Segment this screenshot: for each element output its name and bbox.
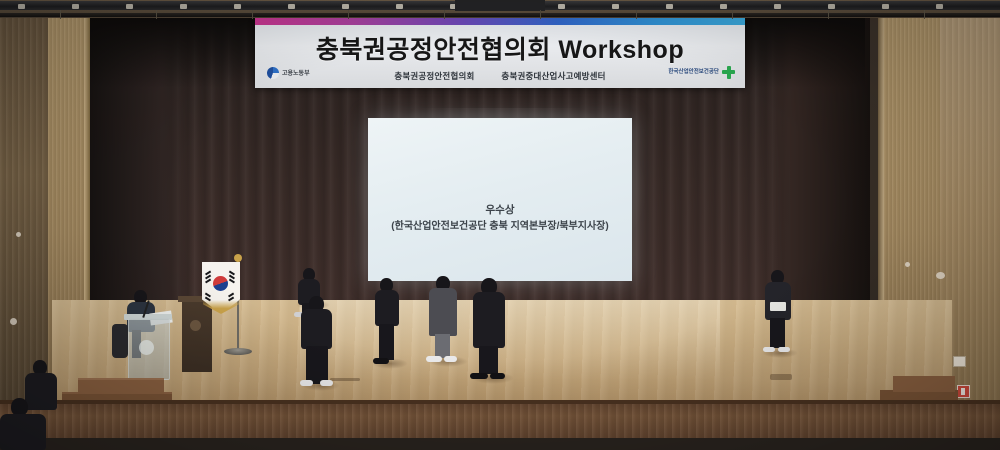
wall-fixture-dot-left bbox=[16, 232, 21, 237]
truss-lamp-icon bbox=[342, 4, 349, 9]
truss-lamp-icon bbox=[666, 4, 673, 9]
truss-lamp-icon bbox=[828, 4, 835, 9]
molab-logo-text: 고용노동부 bbox=[282, 68, 310, 77]
kosha-logo: 한국산업안전보건공단 bbox=[659, 62, 735, 82]
event-banner: 충북권공정안전협의회 Workshop 충북권공정안전협의회 충북권중대산업사고… bbox=[255, 18, 745, 88]
person-shoe bbox=[373, 358, 389, 364]
truss-wire bbox=[444, 10, 445, 19]
truss-lower-bar bbox=[0, 13, 1000, 17]
truss-lamp-icon bbox=[180, 4, 187, 9]
staff-papers bbox=[770, 302, 786, 311]
wall-fixture-dot bbox=[905, 262, 910, 267]
truss-wire bbox=[60, 10, 61, 19]
person-legs bbox=[379, 324, 394, 360]
person-shoe bbox=[490, 373, 505, 379]
stage-steps-left-upper bbox=[78, 378, 164, 394]
person-shoe bbox=[778, 347, 790, 352]
floor-hatch bbox=[770, 374, 792, 380]
truss-wire bbox=[636, 10, 637, 19]
truss-lamp-icon bbox=[936, 4, 943, 9]
ministry-of-labor-logo: 고용노동부 bbox=[267, 65, 333, 80]
taegeuk-icon bbox=[213, 276, 228, 291]
stage-person-2 bbox=[300, 296, 334, 386]
person-body bbox=[473, 292, 505, 348]
wall-switch-plate[interactable] bbox=[953, 356, 966, 367]
wall-fixture-knob bbox=[936, 272, 945, 279]
flag-pole-finial bbox=[234, 254, 242, 262]
fire-safety-sign bbox=[957, 385, 970, 398]
truss-lamp-icon bbox=[558, 4, 565, 9]
truss-lamp-icon bbox=[72, 4, 79, 9]
truss-wire bbox=[348, 10, 349, 19]
truss-wire bbox=[924, 10, 925, 19]
person-shoe bbox=[763, 347, 775, 352]
wall-fixture-dot-left-2 bbox=[10, 318, 17, 325]
person-shoe bbox=[320, 380, 333, 386]
person-coat bbox=[429, 288, 457, 336]
person-body bbox=[375, 290, 399, 326]
wooden-lectern bbox=[182, 300, 212, 372]
stage-steps-right-upper bbox=[893, 376, 955, 392]
kosha-logo-text: 한국산업안전보건공단 bbox=[668, 69, 719, 76]
person-shoe bbox=[470, 373, 488, 379]
banner-subtitle-right: 충북권중대산업사고예방센터 bbox=[501, 71, 605, 81]
banner-title: 충북권공정안전협의회 Workshop bbox=[255, 30, 745, 66]
stage-person-3 bbox=[374, 278, 400, 362]
projection-screen: 우수상 (한국산업안전보건공단 충북 지역본부장/북부지사장) bbox=[368, 118, 632, 281]
truss-wire bbox=[732, 10, 733, 19]
kosha-cross-icon bbox=[722, 66, 735, 79]
screen-award-title: 우수상 bbox=[368, 202, 632, 217]
truss-wire bbox=[252, 10, 253, 19]
person-legs bbox=[435, 334, 450, 358]
person-body bbox=[301, 309, 332, 349]
truss-lamp-icon bbox=[720, 4, 727, 9]
wood-wall-left-far bbox=[0, 18, 52, 410]
truss-lamp-icon bbox=[882, 4, 889, 9]
person-legs bbox=[770, 318, 785, 348]
truss-wire bbox=[828, 10, 829, 19]
wooden-lectern-emblem bbox=[190, 320, 201, 331]
person-body bbox=[765, 282, 791, 320]
chair-behind-podium bbox=[112, 324, 128, 358]
person-shoe bbox=[300, 380, 313, 386]
truss-lamp-icon bbox=[774, 4, 781, 9]
person-legs bbox=[479, 346, 498, 374]
audience-area bbox=[0, 404, 1000, 450]
truss-wire bbox=[540, 10, 541, 19]
screen-award-subtitle: (한국산업안전보건공단 충북 지역본부장/북부지사장) bbox=[368, 217, 632, 232]
stage-person-4 bbox=[428, 276, 458, 360]
banner-subtitle-left: 충북권공정안전협의회 bbox=[394, 71, 474, 81]
truss-lamp-icon bbox=[612, 4, 619, 9]
banner-gradient-strip bbox=[255, 18, 745, 25]
floor-tape-mark bbox=[330, 378, 360, 381]
truss-wire bbox=[156, 10, 157, 19]
stage-floor-highlight bbox=[300, 300, 720, 408]
molab-emblem-icon bbox=[267, 67, 279, 79]
truss-lamp-icon bbox=[288, 4, 295, 9]
auditorium-photo: 충북권공정안전협의회 Workshop 충북권공정안전협의회 충북권중대산업사고… bbox=[0, 0, 1000, 450]
stage-person-5 bbox=[472, 278, 506, 376]
person-shoe bbox=[444, 356, 457, 362]
truss-lamp-icon bbox=[234, 4, 241, 9]
truss-fixture-box bbox=[455, 0, 545, 11]
truss-lamp-icon bbox=[126, 4, 133, 9]
lectern-emblem-icon bbox=[139, 340, 154, 355]
person-legs bbox=[306, 346, 328, 384]
truss-lamp-icon bbox=[18, 4, 25, 9]
flag-stand bbox=[224, 348, 252, 355]
person-shoe bbox=[426, 356, 442, 362]
truss-lamp-icon bbox=[396, 4, 403, 9]
